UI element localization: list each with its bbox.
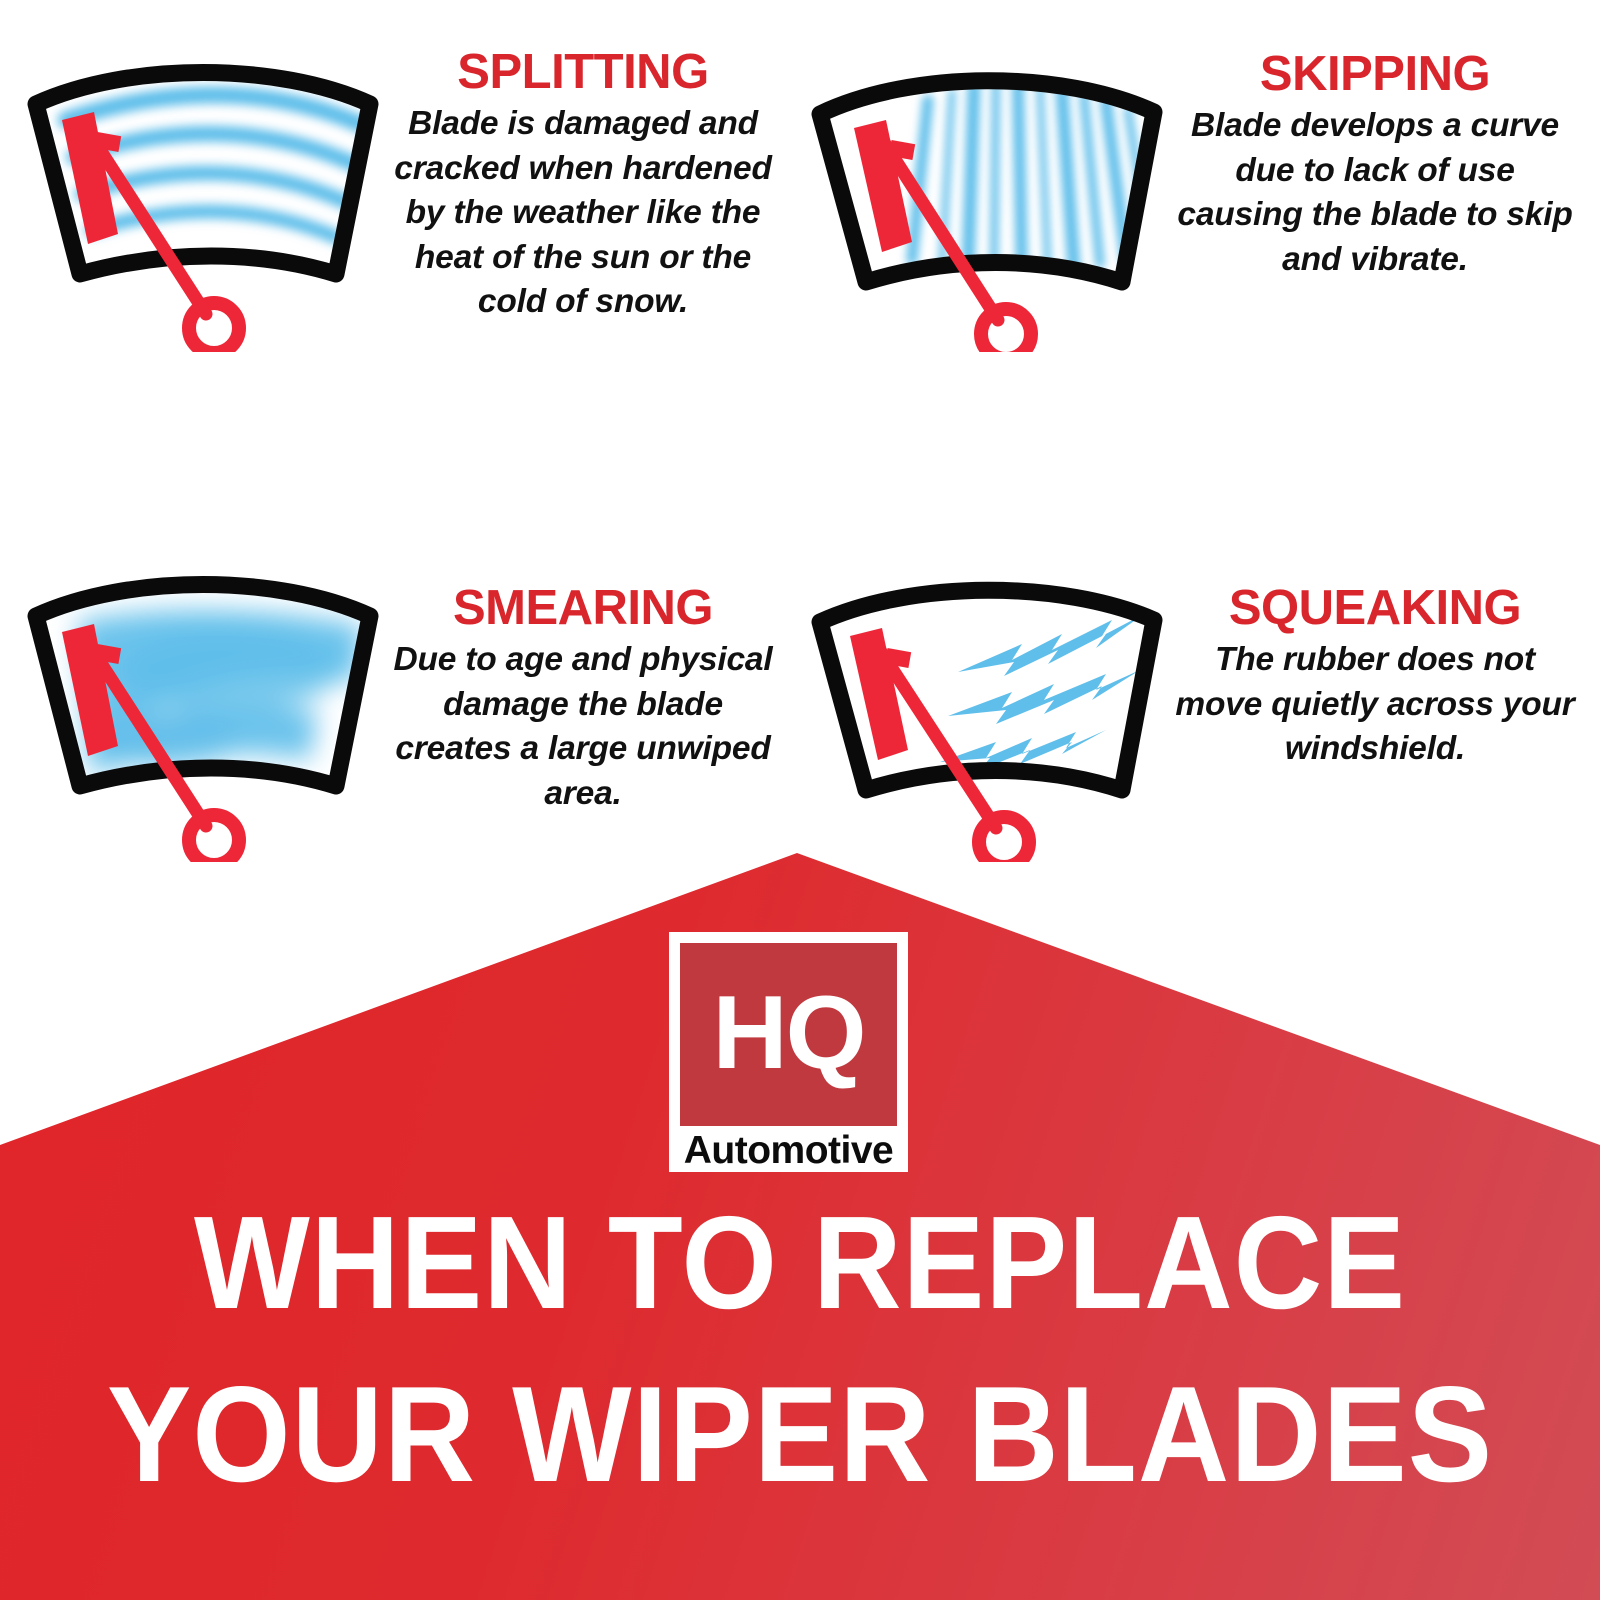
- headline-line-1: WHEN TO REPLACE: [56, 1196, 1544, 1331]
- card-title-squeaking: SQUEAKING: [1170, 584, 1580, 634]
- card-smearing: SMEARING Due to age and physical damage …: [18, 552, 778, 862]
- card-body-skipping: Blade develops a curve due to lack of us…: [1170, 104, 1580, 282]
- card-title-splitting: SPLITTING: [388, 48, 778, 98]
- headline: WHEN TO REPLACE YOUR WIPER BLADES: [0, 1196, 1600, 1503]
- card-text-smearing: SMEARING Due to age and physical damage …: [388, 552, 778, 816]
- wiper-arcs-icon: [18, 42, 388, 352]
- logo-mark-box: HQ: [680, 943, 897, 1126]
- card-splitting: SPLITTING Blade is damaged and cracked w…: [18, 42, 778, 352]
- card-title-skipping: SKIPPING: [1170, 50, 1580, 100]
- card-body-splitting: Blade is damaged and cracked when harden…: [388, 102, 778, 325]
- wiper-streaks-icon: [800, 42, 1170, 352]
- card-body-squeaking: The rubber does not move quietly across …: [1170, 638, 1580, 772]
- logo-mark-text: HQ: [713, 981, 865, 1089]
- card-text-squeaking: SQUEAKING The rubber does not move quiet…: [1170, 552, 1580, 772]
- logo-subtitle: Automotive: [680, 1126, 897, 1176]
- infographic-root: SPLITTING Blade is damaged and cracked w…: [0, 0, 1600, 1600]
- wiper-smudge-icon: [18, 552, 388, 862]
- card-body-smearing: Due to age and physical damage the blade…: [388, 638, 778, 816]
- wiper-zigzag-icon: [800, 552, 1170, 862]
- card-title-smearing: SMEARING: [388, 584, 778, 634]
- card-text-skipping: SKIPPING Blade develops a curve due to l…: [1170, 42, 1580, 282]
- card-skipping: SKIPPING Blade develops a curve due to l…: [800, 42, 1580, 352]
- headline-line-2: YOUR WIPER BLADES: [56, 1365, 1544, 1504]
- card-text-splitting: SPLITTING Blade is damaged and cracked w…: [388, 42, 778, 325]
- card-squeaking: SQUEAKING The rubber does not move quiet…: [800, 552, 1580, 862]
- hq-automotive-logo: HQ Automotive: [669, 932, 908, 1172]
